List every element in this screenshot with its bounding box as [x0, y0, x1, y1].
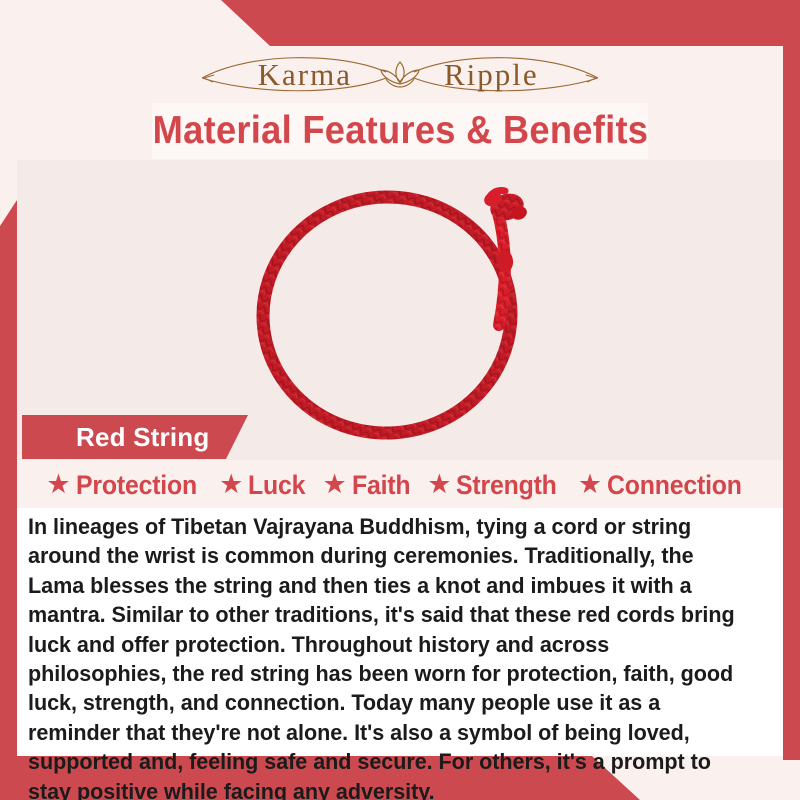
feature-label: Protection: [76, 470, 197, 501]
title-banner: Material Features & Benefits: [152, 103, 648, 159]
feature-label: Faith: [352, 470, 410, 501]
red-braided-cord-bracelet-icon: [235, 165, 565, 455]
frame-right-stripe: [783, 0, 800, 760]
feature-item-faith: ★ Faith: [323, 470, 416, 501]
star-icon: ★: [219, 471, 243, 498]
star-icon: ★: [427, 471, 451, 498]
feature-item-strength: ★ Strength: [427, 470, 566, 501]
material-ribbon: Red String: [22, 415, 248, 459]
frame-top-band: [0, 0, 800, 46]
feature-label: Luck: [248, 470, 305, 501]
description-text: In lineages of Tibetan Vajrayana Buddhis…: [28, 512, 744, 800]
feature-item-protection: ★ Protection: [46, 470, 207, 501]
features-row: ★ Protection ★ Luck ★ Faith ★ Strength ★…: [17, 466, 783, 504]
frame-left-stripe: [0, 200, 17, 800]
infographic-page: Karma Ripple Material Features & Benefit…: [0, 0, 800, 800]
feature-label: Strength: [456, 470, 557, 501]
star-icon: ★: [578, 471, 602, 498]
material-label: Red String: [76, 422, 209, 453]
feature-label: Connection: [607, 470, 742, 501]
feature-item-connection: ★ Connection: [578, 470, 754, 501]
description-panel: In lineages of Tibetan Vajrayana Buddhis…: [17, 508, 783, 756]
star-icon: ★: [46, 471, 70, 498]
star-icon: ★: [323, 471, 347, 498]
feature-item-luck: ★ Luck: [219, 470, 310, 501]
page-title: Material Features & Benefits: [152, 109, 648, 153]
